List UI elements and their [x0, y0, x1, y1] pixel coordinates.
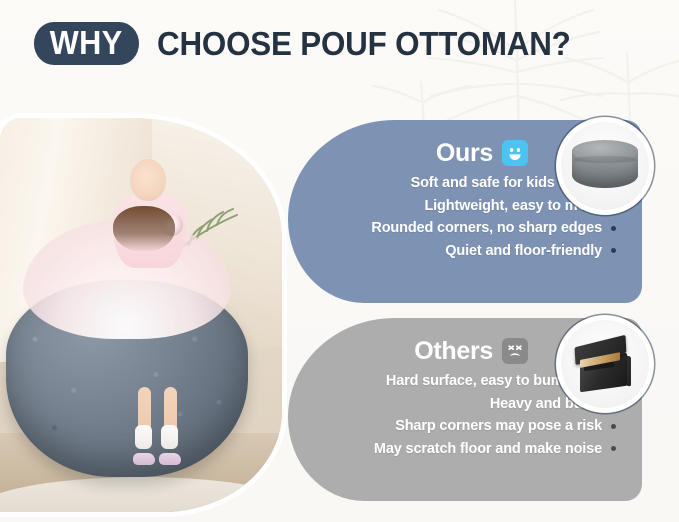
product-thumbnail-others [556, 315, 654, 413]
panel-title-others: Others [414, 339, 493, 364]
unhappy-face-icon [502, 338, 528, 364]
infographic-canvas: WHY CHOOSE POUF OTTOMAN? [0, 0, 679, 522]
round-pouf-illustration [572, 140, 639, 191]
happy-face-icon [502, 140, 528, 166]
page-title: WHY CHOOSE POUF OTTOMAN? [30, 22, 592, 65]
bullet-dot-icon [611, 248, 616, 253]
list-item: Quiet and floor-friendly [445, 244, 616, 259]
why-badge: WHY [34, 22, 139, 65]
product-thumbnail-ours [556, 117, 654, 215]
bullet-text: Rounded corners, no sharp edges [371, 221, 602, 236]
list-item: Rounded corners, no sharp edges [371, 221, 616, 236]
bullet-dot-icon [611, 424, 616, 429]
thumbnail-image-box-ottoman [561, 320, 649, 408]
bullet-text: Sharp corners may pose a risk [395, 419, 602, 434]
thumbnail-image-pouf [561, 122, 649, 210]
child-sock-right [161, 425, 178, 449]
list-item: May scratch floor and make noise [374, 442, 616, 457]
bullet-text: Quiet and floor-friendly [445, 244, 602, 259]
panel-title-ours: Ours [436, 141, 493, 166]
child-sock-left [135, 425, 152, 449]
child-shoe-right [159, 453, 181, 465]
headline-text: CHOOSE POUF OTTOMAN? [157, 25, 571, 63]
panel-header-ours: Ours [436, 140, 528, 166]
panel-header-others: Others [414, 338, 528, 364]
child-hair-front [113, 206, 175, 252]
pouf-seam [574, 156, 637, 162]
box-ottoman-illustration [573, 339, 638, 392]
bullet-dot-icon [611, 226, 616, 231]
child-shoe-left [133, 453, 155, 465]
lifestyle-photo [0, 118, 282, 512]
bullet-text: May scratch floor and make noise [374, 442, 602, 457]
list-item: Sharp corners may pose a risk [395, 419, 616, 434]
bullet-dot-icon [611, 446, 616, 451]
photo-scene [0, 118, 282, 512]
child-face [130, 159, 166, 201]
